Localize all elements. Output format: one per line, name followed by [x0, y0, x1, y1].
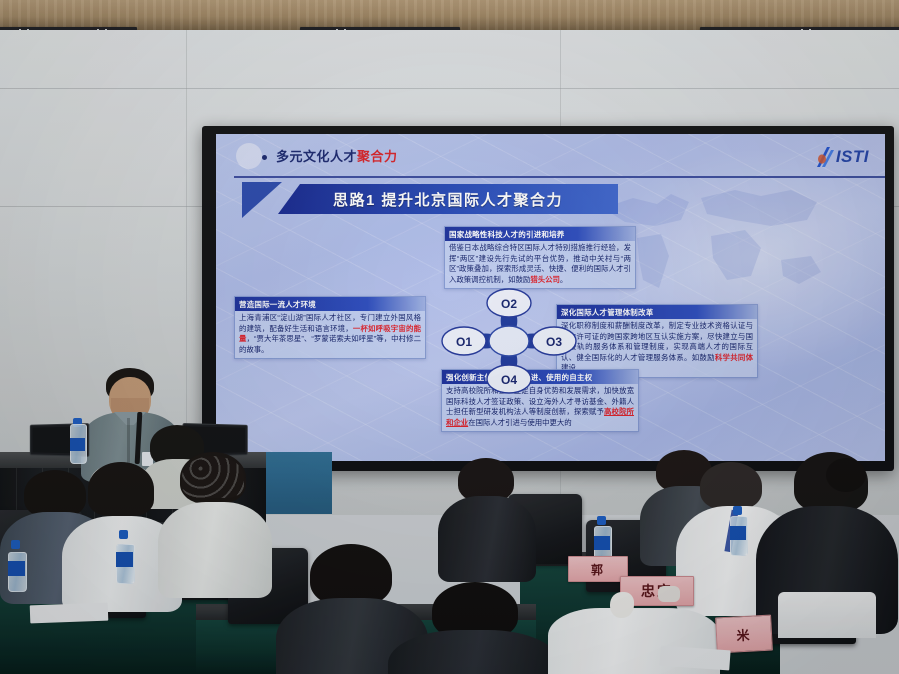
svg-text:O2: O2 — [501, 297, 517, 311]
body-text-post: 。 — [560, 275, 567, 284]
audience-member — [438, 458, 534, 576]
presentation-slide: 多元文化人才聚合力 ISTI 思路1 提升北京 — [216, 134, 885, 461]
breadcrumb-plain-text: 多元文化人才 — [276, 149, 357, 164]
header-decor-circle — [236, 143, 262, 169]
seat-cover-cloth — [778, 592, 876, 638]
crumpled-tissue — [610, 592, 634, 618]
hair-bun — [826, 458, 866, 492]
slide-title-banner: 思路1 提升北京国际人才聚合力 — [278, 184, 618, 214]
isti-logo-mark-icon — [813, 146, 835, 168]
audience-member — [158, 452, 270, 592]
document-paper — [30, 603, 109, 624]
water-bottle — [70, 418, 85, 464]
body-text-post: ，“贾大年茶思星”、“罗蒙诺索夫如呼星”等，中村修二的故事。 — [239, 334, 421, 354]
slide-header: 多元文化人才聚合力 ISTI — [216, 140, 885, 174]
wood-grain-texture — [0, 0, 899, 30]
nameplate-1: 郭 — [568, 556, 628, 582]
svg-text:O3: O3 — [546, 335, 562, 349]
projection-screen: 多元文化人才聚合力 ISTI 思路1 提升北京 — [202, 126, 894, 471]
isti-logo: ISTI — [813, 144, 869, 170]
nameplate-1-text: 郭 — [591, 561, 605, 578]
title-triangle-decor — [242, 182, 282, 218]
content-box-left-header: 营造国际一流人才环境 — [235, 297, 425, 311]
content-box-left: 营造国际一流人才环境 上海青浦区“淀山湖”国际人才社区，专门建立外国风格的建筑，… — [234, 296, 426, 359]
body-text-highlight: 科学共同体 — [715, 353, 753, 362]
breadcrumb-highlight-text: 聚合力 — [357, 149, 398, 164]
body-text-post: 在国际人才引进与使用中更大的 — [468, 418, 571, 427]
content-box-top-body: 借鉴日本战略综合特区国际人才特别措施推行经验，发挥“两区”建设先行先试的平台优势… — [445, 241, 635, 288]
audience-member — [756, 452, 896, 632]
audience-member — [388, 582, 558, 674]
nameplate-3: 米 — [715, 615, 773, 654]
content-box-right: 深化国际人才管理体制改革 深化职称制度和薪酬制度改革，制定专业技术资格认证与工作… — [556, 304, 758, 378]
isti-wordmark: ISTI — [836, 147, 869, 167]
slide-title-text: 思路1 提升北京国际人才聚合力 — [333, 189, 563, 210]
water-bottle — [116, 530, 133, 584]
svg-text:O1: O1 — [456, 335, 472, 349]
content-box-right-header: 深化国际人才管理体制改革 — [557, 305, 757, 319]
hair-clip-detail — [182, 456, 244, 498]
wall-seam — [0, 88, 899, 89]
svg-text:O4: O4 — [501, 373, 517, 387]
nameplate-3-text: 米 — [736, 624, 752, 644]
water-bottle — [730, 506, 746, 556]
conference-photo: 多元文化人才聚合力 ISTI 思路1 提升北京 — [0, 0, 899, 674]
content-box-right-body: 深化职称制度和薪酬制度改革，制定专业技术资格认证与工作许可证的跨国家跨地区互认实… — [557, 319, 757, 377]
body-text-highlight: 猎头公司 — [530, 275, 560, 284]
pinwheel-diagram: O1 O2 O3 O4 — [434, 286, 584, 396]
header-divider — [234, 176, 885, 178]
breadcrumb-bullet-icon — [262, 155, 267, 160]
content-box-top: 国家战略性科技人才的引进和培养 借鉴日本战略综合特区国际人才特别措施推行经验，发… — [444, 226, 636, 289]
water-bottle — [8, 540, 25, 592]
slide-breadcrumb: 多元文化人才聚合力 — [276, 146, 398, 165]
content-box-top-header: 国家战略性科技人才的引进和培养 — [445, 227, 635, 241]
content-box-left-body: 上海青浦区“淀山湖”国际人才社区，专门建立外国风格的建筑，配备好生活和语言环境，… — [235, 311, 425, 358]
desk-item — [658, 586, 680, 602]
